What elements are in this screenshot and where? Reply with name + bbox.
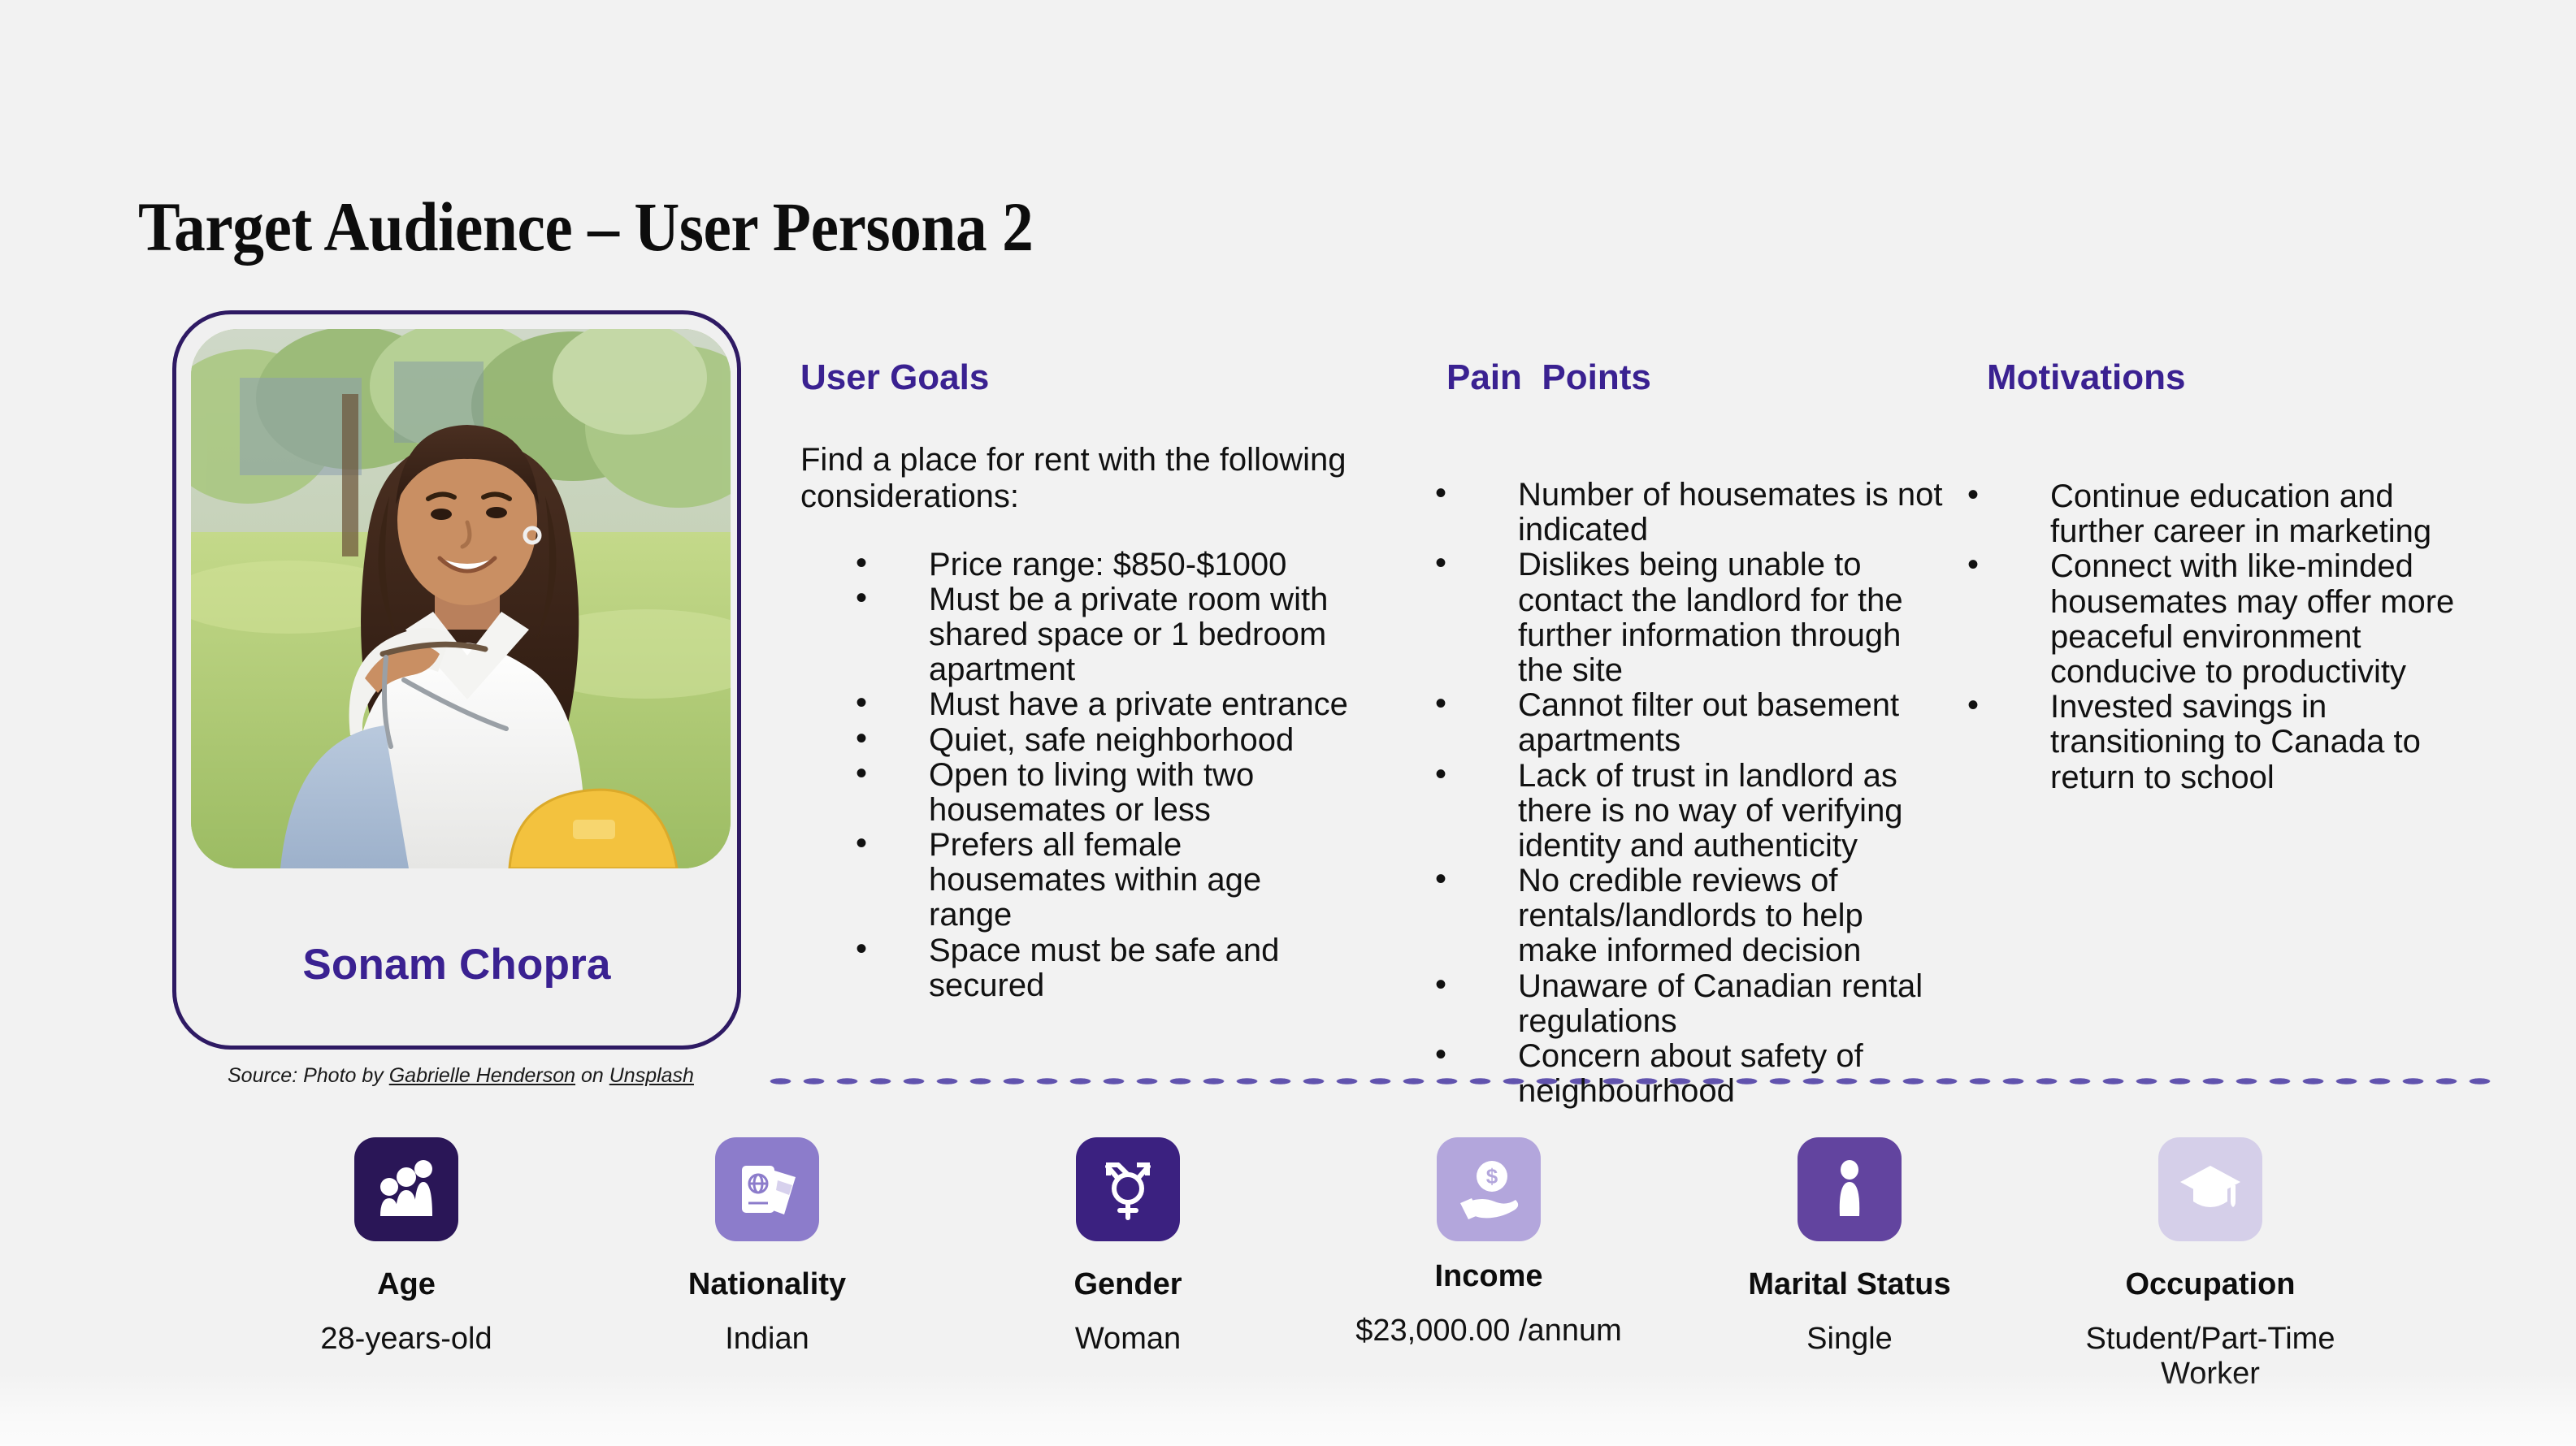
passport-ticket-icon [715, 1137, 819, 1241]
user-goals-intro: Find a place for rent with the following… [800, 442, 1353, 515]
attribute-value: $23,000.00 /annum [1326, 1314, 1651, 1349]
source-prefix: Source: Photo by [228, 1064, 389, 1087]
list-item: Prefers all female housemates within age… [851, 828, 1353, 933]
photo-source-caption: Source: Photo by Gabrielle Henderson on … [228, 1064, 694, 1088]
list-item: Lack of trust in landlord as there is no… [1430, 759, 1950, 864]
attribute-label: Age [244, 1267, 569, 1302]
attribute-label: Nationality [605, 1267, 930, 1302]
persona-photo [191, 329, 731, 868]
list-item: Unaware of Canadian rental regulations [1430, 969, 1950, 1039]
list-item: Quiet, safe neighborhood [851, 723, 1353, 758]
family-group-icon [354, 1137, 458, 1241]
page-title: Target Audience – User Persona 2 [138, 192, 1033, 262]
svg-text:$: $ [1486, 1164, 1498, 1188]
single-person-icon [1798, 1137, 1902, 1241]
list-item: Dislikes being unable to contact the lan… [1430, 548, 1950, 688]
motivations-column: Motivations Continue education and furth… [1962, 357, 2491, 795]
attribute-value: Single [1687, 1322, 2012, 1357]
motivations-list: Continue education and further career in… [1962, 479, 2491, 795]
list-item: Price range: $850-$1000 [851, 548, 1353, 582]
attribute-income: $ Income $23,000.00 /annum [1326, 1137, 1651, 1349]
unsplash-link[interactable]: Unsplash [609, 1064, 694, 1087]
persona-name: Sonam Chopra [176, 940, 737, 989]
attribute-value: 28-years-old [244, 1322, 569, 1357]
attribute-age: Age 28-years-old [244, 1137, 569, 1357]
attribute-marital-status: Marital Status Single [1687, 1137, 2012, 1357]
attribute-value: Student/Part-Time Worker [2048, 1322, 2373, 1391]
list-item: Must be a private room with shared space… [851, 582, 1353, 688]
persona-card: Sonam Chopra [172, 310, 741, 1050]
list-item: Number of housemates is not indicated [1430, 478, 1950, 548]
list-item: No credible reviews of rentals/landlords… [1430, 864, 1950, 969]
user-goals-column: User Goals Find a place for rent with th… [800, 357, 1353, 1003]
pain-points-column: Pain Points Number of housemates is not … [1430, 357, 1950, 1109]
slide-canvas: Target Audience – User Persona 2 [0, 0, 2576, 1446]
attribute-label: Income [1326, 1259, 1651, 1294]
attribute-value: Indian [605, 1322, 930, 1357]
attribute-label: Marital Status [1687, 1267, 2012, 1302]
motivations-heading: Motivations [1987, 357, 2491, 398]
attribute-occupation: Occupation Student/Part-Time Worker [2048, 1137, 2373, 1391]
attribute-label: Occupation [2048, 1267, 2373, 1302]
user-goals-list: Price range: $850-$1000 Must be a privat… [851, 548, 1353, 1003]
hand-holding-coin-icon: $ [1437, 1137, 1541, 1241]
pain-points-heading: Pain Points [1446, 357, 1950, 398]
attribute-label: Gender [965, 1267, 1290, 1302]
attribute-nationality: Nationality Indian [605, 1137, 930, 1357]
list-item: Must have a private entrance [851, 687, 1353, 722]
list-item: Space must be safe and secured [851, 933, 1353, 1003]
attribute-strip: Age 28-years-old [244, 1137, 2373, 1391]
list-item: Concern about safety of neighbourhood [1430, 1039, 1950, 1109]
list-item: Invested savings in transitioning to Can… [1962, 690, 2491, 795]
source-middle: on [575, 1064, 609, 1087]
user-goals-heading: User Goals [800, 357, 1353, 398]
list-item: Continue education and further career in… [1962, 479, 2491, 549]
pain-points-list: Number of housemates is not indicated Di… [1430, 478, 1950, 1109]
gender-symbol-icon [1076, 1137, 1180, 1241]
attribute-value: Woman [965, 1322, 1290, 1357]
photographer-link[interactable]: Gabrielle Henderson [389, 1064, 575, 1087]
list-item: Connect with like-minded housemates may … [1962, 549, 2491, 690]
list-item: Open to living with two housemates or le… [851, 758, 1353, 828]
attribute-gender: Gender Woman [965, 1137, 1290, 1357]
list-item: Cannot filter out basement apartments [1430, 688, 1950, 758]
graduation-cap-icon [2158, 1137, 2262, 1241]
